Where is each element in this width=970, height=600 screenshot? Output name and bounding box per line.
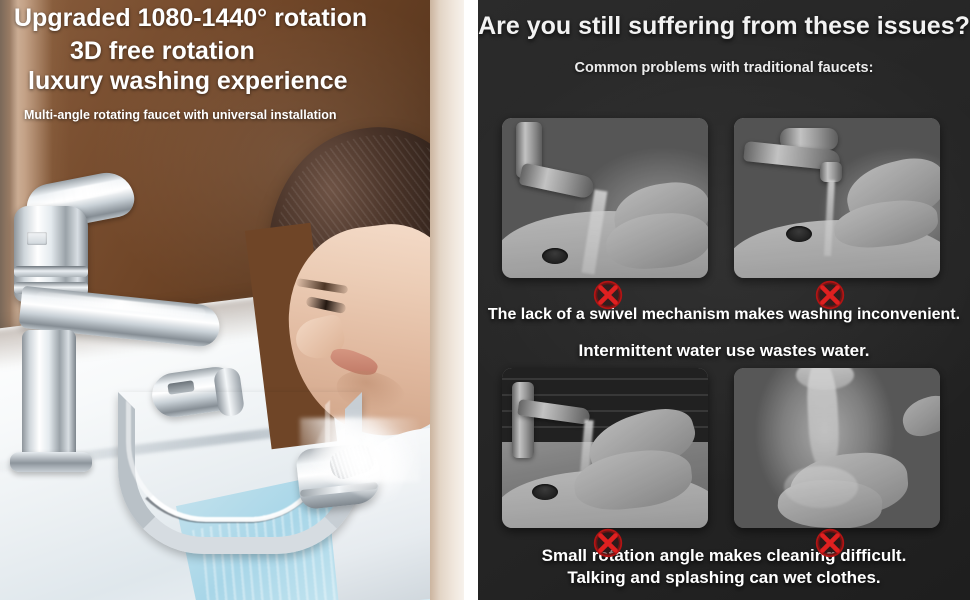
drain-icon (542, 248, 568, 264)
drain-icon (532, 484, 558, 500)
problems-title: Are you still suffering from these issue… (478, 12, 970, 41)
problem-tile-2 (734, 118, 940, 278)
faucet-ring-upper (14, 266, 88, 277)
faucet-brand-chip (27, 232, 47, 245)
photo-low-faucet (502, 368, 708, 528)
prohibition-x-icon (815, 280, 845, 310)
water-splash-top (796, 368, 854, 390)
problems-subtitle: Common problems with traditional faucets… (478, 60, 970, 76)
faucet-base (10, 452, 92, 472)
sub-headline: Multi-angle rotating faucet with univers… (0, 96, 470, 123)
faucet-aerator (820, 162, 842, 182)
problem-caption-4: Talking and splashing can wet clothes. (478, 568, 970, 588)
problem-tile-3 (502, 368, 708, 528)
left-copy-block: Upgraded 1080-1440° rotation 3D free rot… (0, 4, 470, 123)
photo-narrow-stream (734, 118, 940, 278)
product-listing-image: Upgraded 1080-1440° rotation 3D free rot… (0, 0, 970, 600)
right-problems-panel: Are you still suffering from these issue… (478, 0, 970, 600)
left-hero-panel: Upgraded 1080-1440° rotation 3D free rot… (0, 0, 478, 600)
water-splash-icon (784, 466, 858, 508)
photo-splashing-water (734, 368, 940, 528)
prohibition-x-icon (593, 280, 623, 310)
problem-caption-3: Small rotation angle makes cleaning diff… (478, 546, 970, 566)
headline-line-3: luxury washing experience (0, 66, 470, 96)
faucet-column (22, 330, 76, 460)
headline-line-1: Upgraded 1080-1440° rotation (0, 4, 470, 33)
problem-tile-1 (502, 118, 708, 278)
hand-shape (898, 391, 940, 441)
problem-caption-2: Intermittent water use wastes water. (478, 341, 970, 361)
headline-line-2: 3D free rotation (0, 33, 470, 66)
prohibition-x-icon (815, 528, 845, 558)
faucet-spout (519, 163, 596, 200)
problem-caption-1: The lack of a swivel mechanism makes was… (478, 306, 970, 324)
problem-tile-4 (734, 368, 940, 528)
faucet-neck (512, 382, 534, 458)
photo-fixed-faucet (502, 118, 708, 278)
drain-icon (786, 226, 812, 242)
prohibition-x-icon (593, 528, 623, 558)
